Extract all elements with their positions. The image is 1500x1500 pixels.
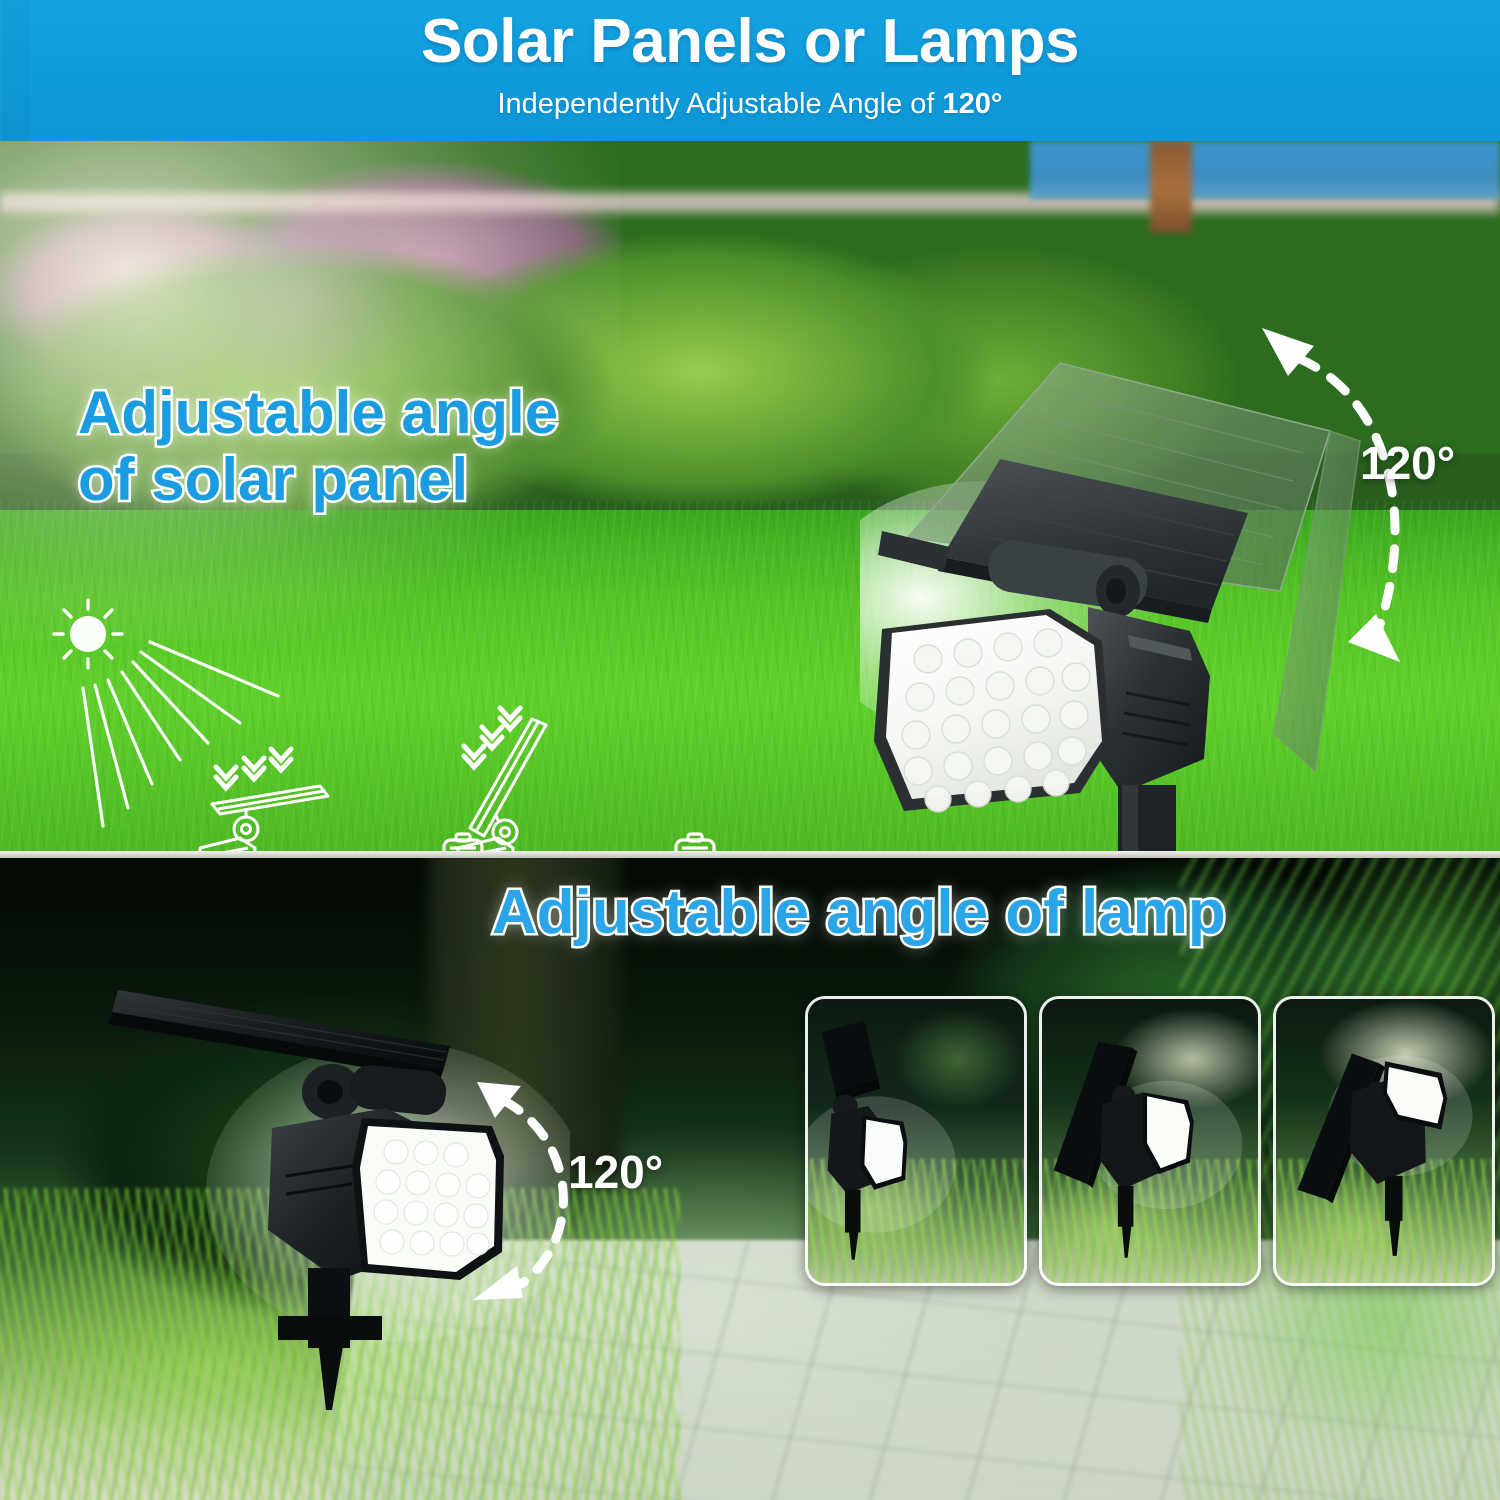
arrow-head-bottom xyxy=(1348,614,1400,662)
charging-angle-diagram xyxy=(40,586,720,851)
battery-full-icon-right xyxy=(676,834,714,851)
section-divider xyxy=(0,851,1500,858)
arrow-head-top xyxy=(477,1082,521,1118)
lamp-angle-thumbnail-2[interactable] xyxy=(1039,996,1261,1286)
lamp-headline: Adjustable angle of lamp xyxy=(492,882,1500,944)
solar-unit-flat xyxy=(200,786,328,851)
arc-dashed-line xyxy=(1298,358,1395,636)
banner-subtitle: Independently Adjustable Angle of 120° xyxy=(0,88,1500,121)
lens-flare-secondary xyxy=(200,201,410,401)
thumbnail-1-lamp xyxy=(808,999,1024,1281)
solar-headline-line-1: Adjustable angle xyxy=(78,379,778,446)
solar-panel-headline: Adjustable angle of solar panel xyxy=(78,379,778,513)
thumbnail-3-lamp xyxy=(1276,999,1492,1281)
banner-subtitle-value: 120° xyxy=(943,88,1003,120)
banner-title: Solar Panels or Lamps xyxy=(0,6,1500,77)
banner-subtitle-prefix: Independently Adjustable Angle of xyxy=(497,88,942,120)
lamp-angle-thumbnail-1[interactable] xyxy=(805,996,1027,1286)
solar-headline-line-2: of solar panel xyxy=(78,446,778,513)
lamp-angle-label: 120° xyxy=(568,1145,663,1199)
lamp-angle-thumbnail-3[interactable] xyxy=(1273,996,1495,1286)
arrow-head-bottom xyxy=(473,1266,523,1300)
lamp-angle-thumbnails xyxy=(805,996,1495,1286)
charge-chevrons-left xyxy=(216,749,291,788)
lens-highlight xyxy=(886,615,1102,799)
solar-panel-section: Adjustable angle of solar panel xyxy=(0,141,1500,851)
arc-dashed-line xyxy=(503,1100,563,1284)
thumbnail-2-lamp xyxy=(1042,999,1258,1281)
blue-fence xyxy=(1030,141,1500,199)
sun-icon xyxy=(54,600,122,668)
header-banner: Solar Panels or Lamps Independently Adju… xyxy=(0,0,1500,141)
arrow-head-top xyxy=(1262,328,1314,376)
night-solar-panel xyxy=(108,990,450,1080)
ground-stake xyxy=(1074,785,1220,851)
solar-panel-angle-arc xyxy=(1240,306,1490,676)
fence-post xyxy=(1150,141,1192,233)
product-feature-infographic: Solar Panels or Lamps Independently Adju… xyxy=(0,0,1500,1500)
solar-angle-label: 120° xyxy=(1360,436,1455,490)
charge-chevrons-right xyxy=(464,708,520,767)
